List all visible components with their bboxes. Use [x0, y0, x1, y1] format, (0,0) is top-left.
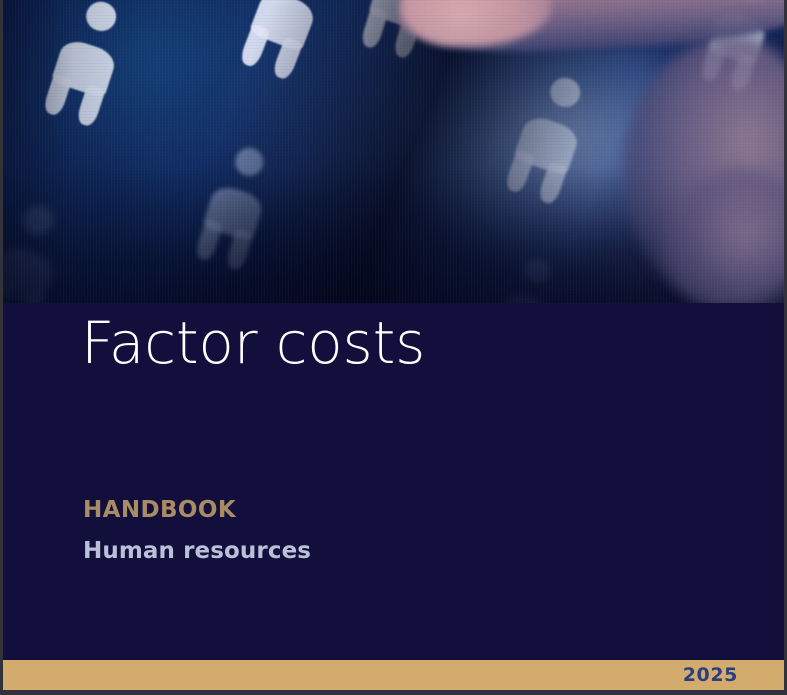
page-title: Factor costs — [81, 311, 425, 376]
document-subtitle: Human resources — [83, 540, 311, 563]
publication-year: 2025 — [683, 664, 738, 686]
title-panel: Factor costs HANDBOOK Human resources — [3, 303, 784, 660]
footer-bottom-edge — [3, 690, 784, 695]
document-kicker: HANDBOOK — [83, 499, 311, 522]
handbook-cover: Factor costs HANDBOOK Human resources 20… — [0, 0, 787, 695]
footer-bar: 2025 — [3, 660, 784, 690]
document-meta: HANDBOOK Human resources — [83, 499, 311, 563]
hero-photo — [3, 0, 784, 303]
